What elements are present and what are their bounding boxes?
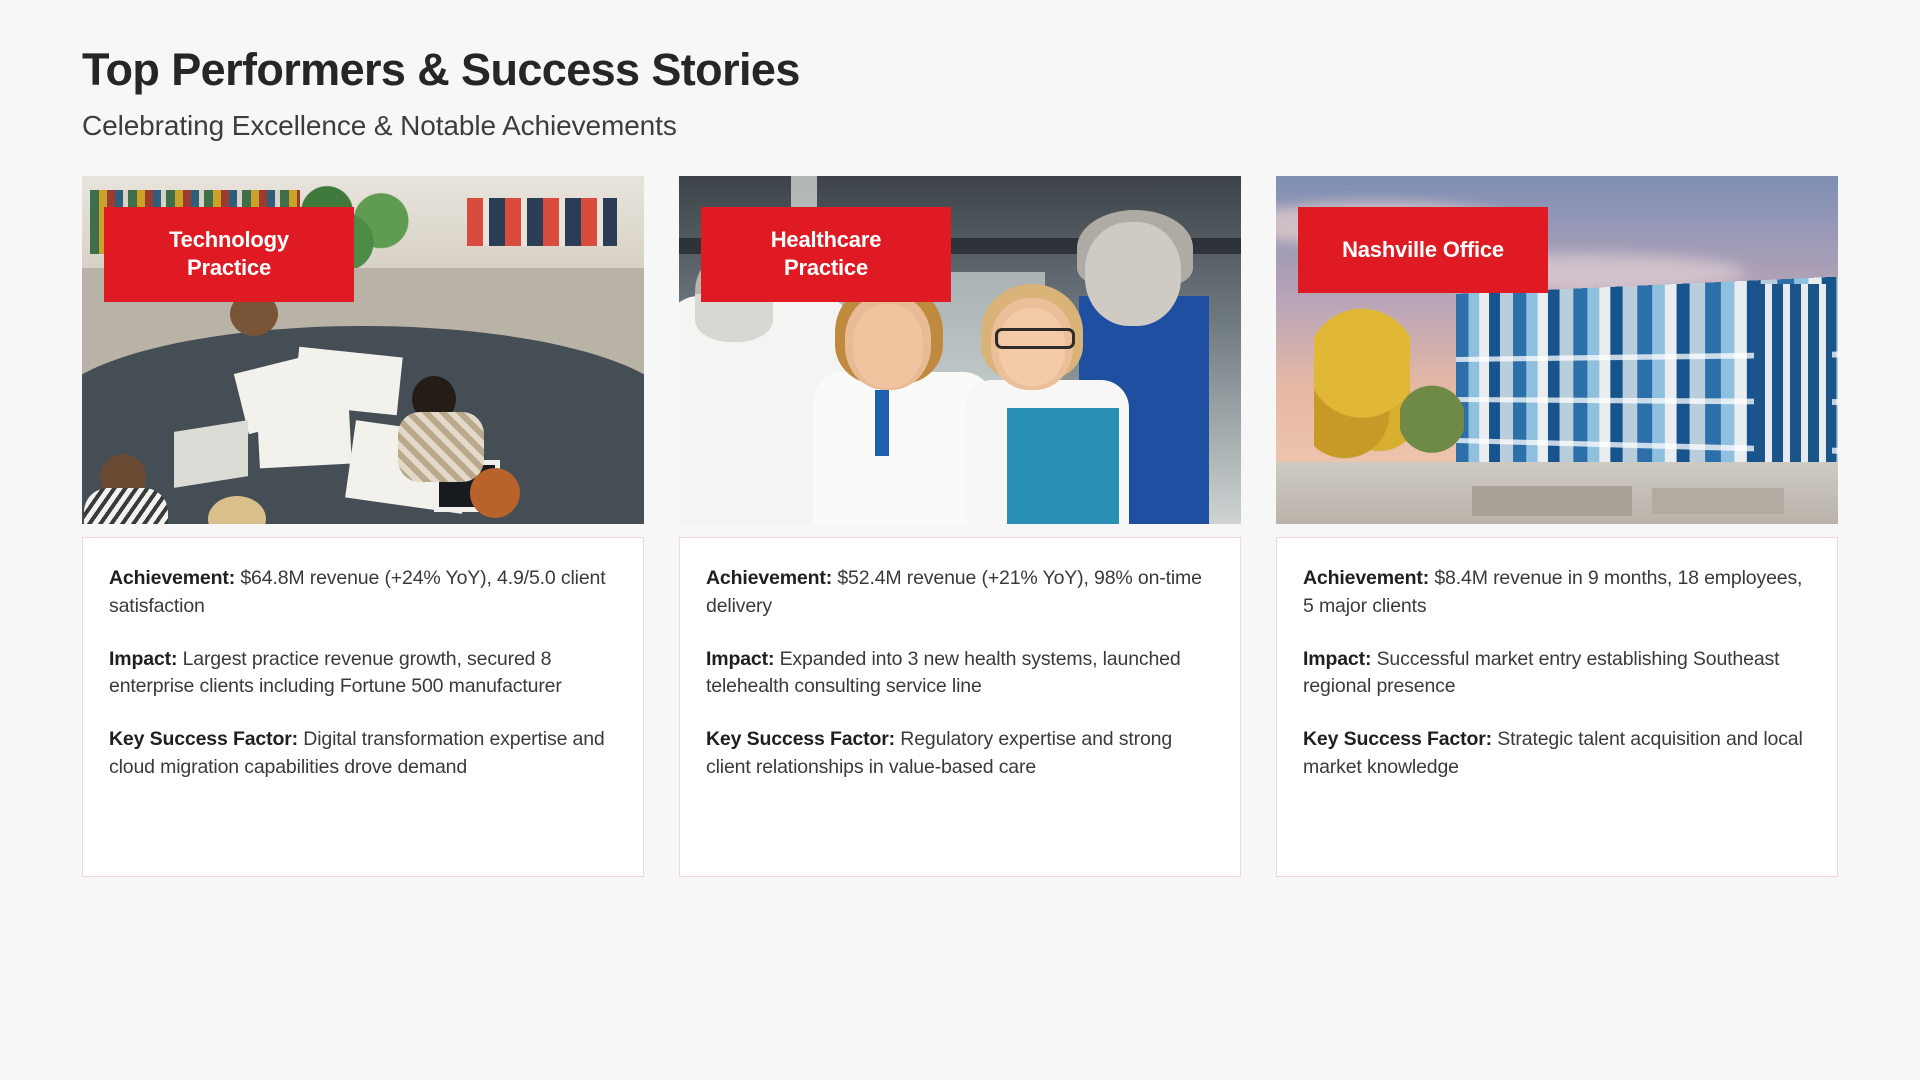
- key-success-factor-row: Key Success Factor: Regulatory expertise…: [706, 726, 1214, 781]
- impact-value: Expanded into 3 new health systems, laun…: [706, 648, 1181, 698]
- impact-value: Successful market entry establishing Sou…: [1303, 648, 1779, 698]
- page-subtitle: Celebrating Excellence & Notable Achieve…: [82, 109, 1838, 143]
- badge-line-1: Technology: [138, 226, 320, 254]
- success-story-card[interactable]: Healthcare Practice Achievement: $52.4M …: [679, 176, 1241, 877]
- key-success-factor-row: Key Success Factor: Strategic talent acq…: [1303, 726, 1811, 781]
- card-photo-healthcare: Healthcare Practice: [679, 176, 1241, 524]
- impact-label: Impact:: [706, 648, 774, 670]
- success-story-card[interactable]: Technology Practice Achievement: $64.8M …: [82, 176, 644, 877]
- card-body-nashville: Achievement: $8.4M revenue in 9 months, …: [1276, 537, 1838, 877]
- impact-row: Impact: Largest practice revenue growth,…: [109, 646, 617, 701]
- card-badge-technology: Technology Practice: [104, 207, 354, 301]
- badge-line-2: Practice: [138, 254, 320, 282]
- badge-line-1: Nashville Office: [1332, 236, 1514, 264]
- key-success-factor-label: Key Success Factor:: [1303, 728, 1492, 750]
- impact-label: Impact:: [1303, 648, 1371, 670]
- achievement-row: Achievement: $52.4M revenue (+21% YoY), …: [706, 565, 1214, 620]
- key-success-factor-label: Key Success Factor:: [109, 728, 298, 750]
- key-success-factor-label: Key Success Factor:: [706, 728, 895, 750]
- badge-line-1: Healthcare: [735, 226, 917, 254]
- card-badge-nashville: Nashville Office: [1298, 207, 1548, 293]
- impact-row: Impact: Successful market entry establis…: [1303, 646, 1811, 701]
- impact-value: Largest practice revenue growth, secured…: [109, 648, 562, 698]
- success-story-card-grid: Technology Practice Achievement: $64.8M …: [82, 176, 1838, 877]
- badge-line-2: Practice: [735, 254, 917, 282]
- card-photo-nashville: Nashville Office: [1276, 176, 1838, 524]
- slide-header: Top Performers & Success Stories Celebra…: [82, 46, 1838, 142]
- card-photo-technology: Technology Practice: [82, 176, 644, 524]
- achievement-label: Achievement:: [706, 567, 832, 589]
- page-title: Top Performers & Success Stories: [82, 46, 1838, 95]
- achievement-label: Achievement:: [1303, 567, 1429, 589]
- key-success-factor-row: Key Success Factor: Digital transformati…: [109, 726, 617, 781]
- slide-root: Top Performers & Success Stories Celebra…: [0, 0, 1920, 1080]
- achievement-row: Achievement: $8.4M revenue in 9 months, …: [1303, 565, 1811, 620]
- card-body-technology: Achievement: $64.8M revenue (+24% YoY), …: [82, 537, 644, 877]
- impact-label: Impact:: [109, 648, 177, 670]
- card-body-healthcare: Achievement: $52.4M revenue (+21% YoY), …: [679, 537, 1241, 877]
- achievement-label: Achievement:: [109, 567, 235, 589]
- impact-row: Impact: Expanded into 3 new health syste…: [706, 646, 1214, 701]
- success-story-card[interactable]: Nashville Office Achievement: $8.4M reve…: [1276, 176, 1838, 877]
- achievement-row: Achievement: $64.8M revenue (+24% YoY), …: [109, 565, 617, 620]
- card-badge-healthcare: Healthcare Practice: [701, 207, 951, 301]
